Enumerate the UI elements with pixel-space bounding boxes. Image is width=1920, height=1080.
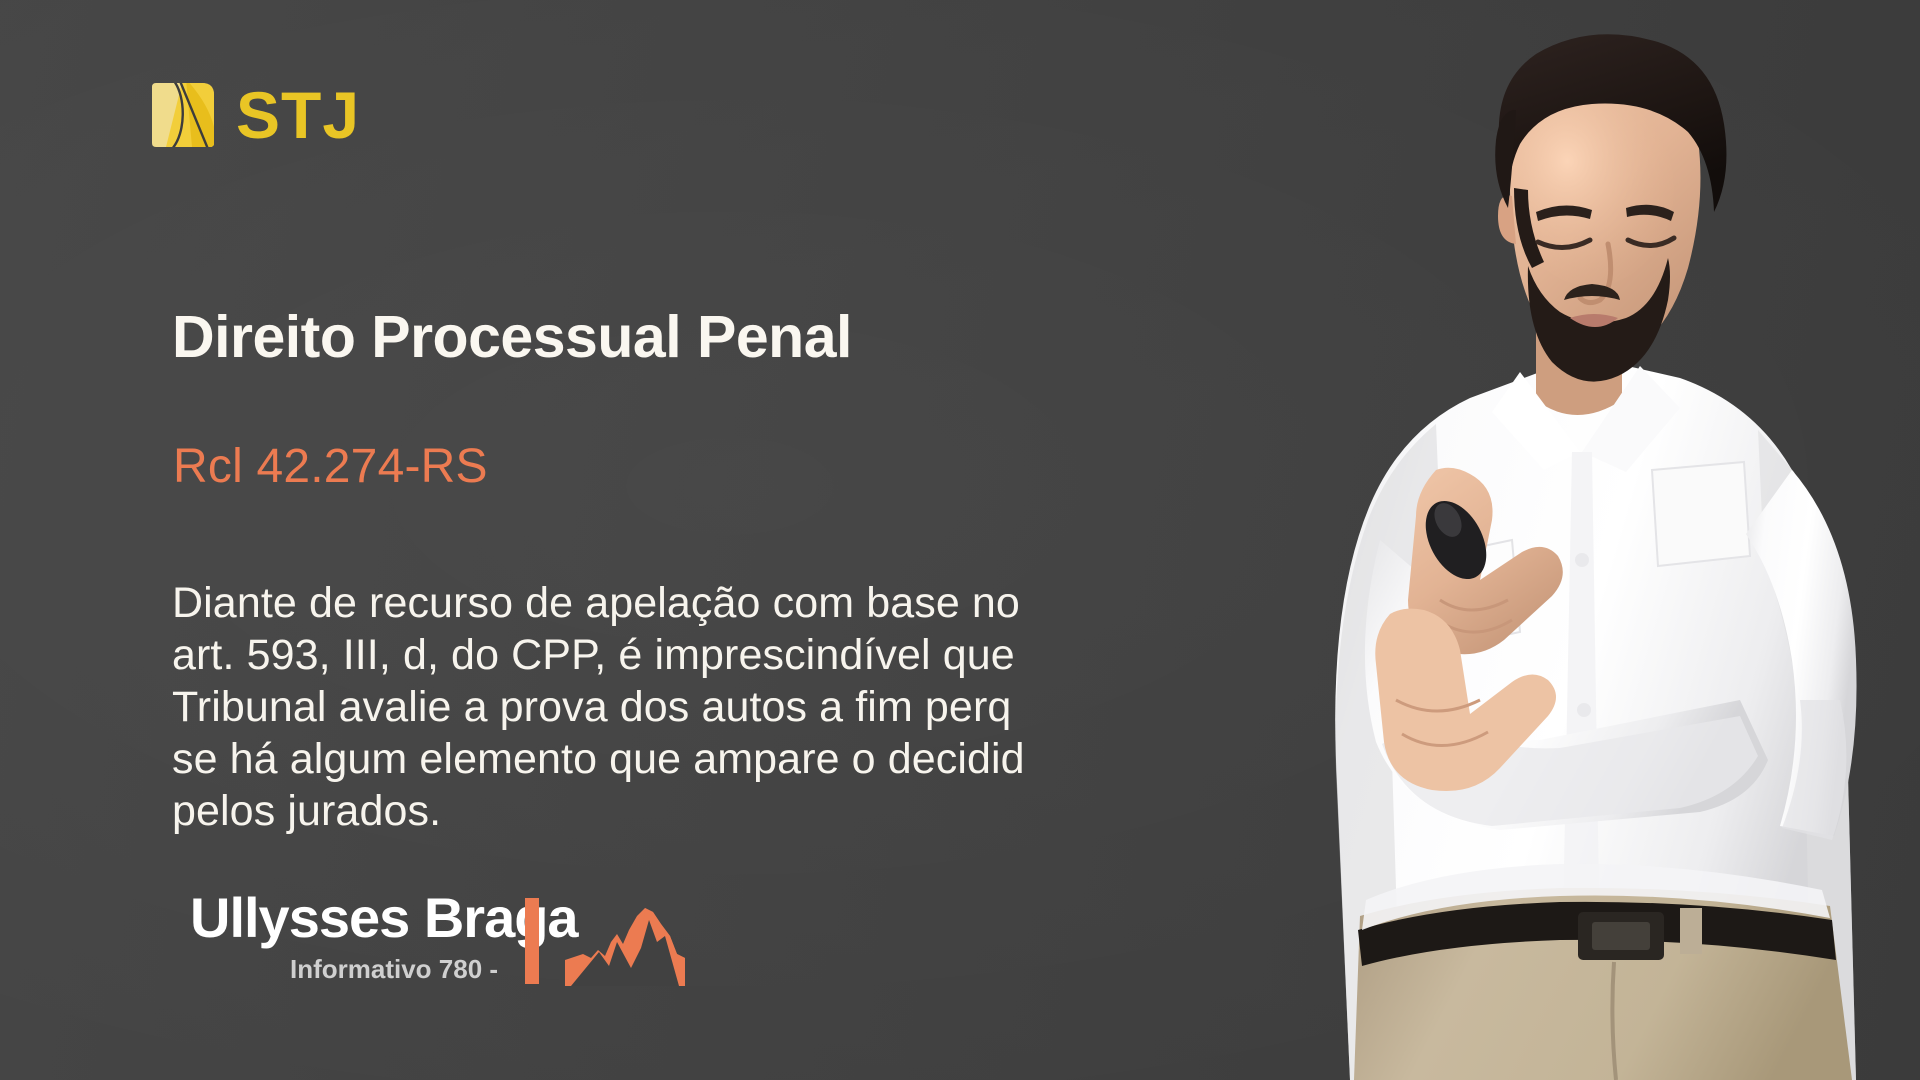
brand-text-group: Ullysses Braga Informativo 780 - xyxy=(190,890,520,990)
orange-vertical-bar-icon xyxy=(525,898,539,984)
presenter-video-overlay xyxy=(1140,0,1920,1080)
slide-stage: STJ Direito Processual Penal Rcl 42.274-… xyxy=(0,0,1920,1080)
body-line: pelos jurados. xyxy=(172,785,1292,837)
brand-subtitle: Informativo 780 - xyxy=(290,956,498,982)
brand-name: Ullysses Braga xyxy=(190,890,578,946)
presenter-branding: Ullysses Braga Informativo 780 - xyxy=(190,890,520,990)
stj-logo: STJ xyxy=(152,82,360,148)
lesson-title: Direito Processual Penal xyxy=(172,307,852,369)
body-line: se há algum elemento que ampare o decidi… xyxy=(172,733,1292,785)
body-text: Diante de recurso de apelação com base n… xyxy=(172,577,1292,837)
body-line: Diante de recurso de apelação com base n… xyxy=(172,577,1292,629)
body-line: art. 593, III, d, do CPP, é imprescindív… xyxy=(172,629,1292,681)
stj-emblem-icon xyxy=(152,83,214,147)
mountain-logo-icon xyxy=(565,908,685,986)
case-number: Rcl 42.274-RS xyxy=(173,442,488,492)
stj-wordmark: STJ xyxy=(236,82,360,148)
body-line: Tribunal avalie a prova dos autos a fim … xyxy=(172,681,1292,733)
